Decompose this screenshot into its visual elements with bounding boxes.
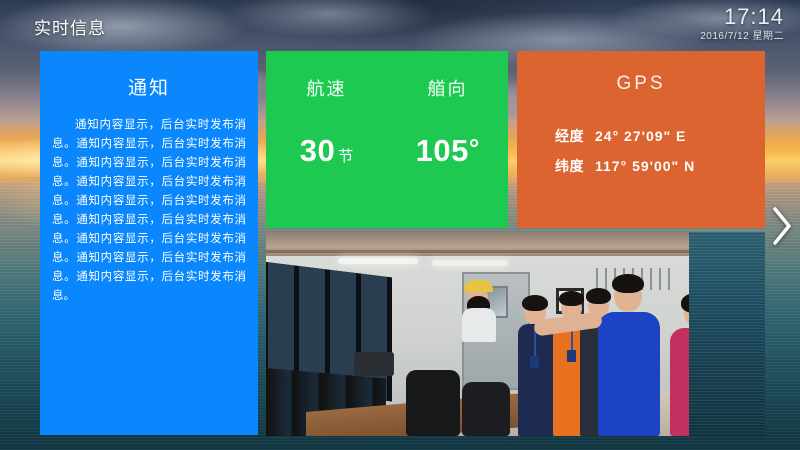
longitude-value: 24° 27'09" E: [595, 128, 686, 144]
photo-sea-through-window: [689, 232, 765, 436]
speed-value: 30: [300, 133, 335, 168]
latitude-value: 117° 59'00" N: [595, 158, 695, 174]
heading-unit: °: [469, 133, 479, 163]
speed-unit: 节: [338, 148, 353, 165]
clock-date: 2016/7/12 星期二: [700, 30, 784, 44]
photo-person-pointing: [594, 272, 664, 436]
next-page-button[interactable]: [770, 205, 794, 247]
gps-panel[interactable]: GPS 经度24° 27'09" E 纬度117° 59'00" N: [517, 51, 765, 228]
photo-chair-1: [406, 370, 460, 436]
gps-title: GPS: [517, 73, 765, 95]
clock-block: 17:14 2016/7/12 星期二: [700, 4, 784, 44]
gps-longitude-row: 经度24° 27'09" E: [555, 121, 765, 151]
photo-person-cap: [462, 272, 496, 342]
notice-title: 通知: [40, 73, 258, 100]
heading-value: 105: [416, 133, 469, 168]
navigation-values-row: 30节 105°: [266, 133, 508, 169]
notice-body: 通知内容显示，后台实时发布消息。通知内容显示，后台实时发布消息。通知内容显示，后…: [52, 116, 246, 306]
heading-label: 艏向: [387, 75, 508, 101]
chevron-right-icon: [770, 205, 794, 247]
speed-value-group: 30节: [266, 133, 387, 169]
page-title: 实时信息: [34, 14, 106, 39]
header-bar: 实时信息 17:14 2016/7/12 星期二: [0, 0, 800, 50]
navigation-labels-row: 航速 艏向: [266, 51, 508, 101]
speed-label: 航速: [266, 75, 387, 101]
gps-rows: 经度24° 27'09" E 纬度117° 59'00" N: [517, 121, 765, 181]
navigation-panel[interactable]: 航速 艏向 30节 105°: [266, 51, 508, 228]
photo-equipment: [354, 352, 394, 376]
heading-value-group: 105°: [387, 133, 508, 169]
photo-chair-2: [462, 382, 510, 436]
control-room-photo[interactable]: [266, 232, 765, 436]
latitude-label: 纬度: [555, 158, 584, 174]
photo-ceiling-lamp-2: [432, 260, 508, 266]
gps-latitude-row: 纬度117° 59'00" N: [555, 151, 765, 181]
notice-panel[interactable]: 通知 通知内容显示，后台实时发布消息。通知内容显示，后台实时发布消息。通知内容显…: [40, 51, 258, 435]
clock-time: 17:14: [700, 4, 784, 30]
longitude-label: 经度: [555, 128, 584, 144]
photo-ceiling-lamp-1: [338, 258, 418, 264]
